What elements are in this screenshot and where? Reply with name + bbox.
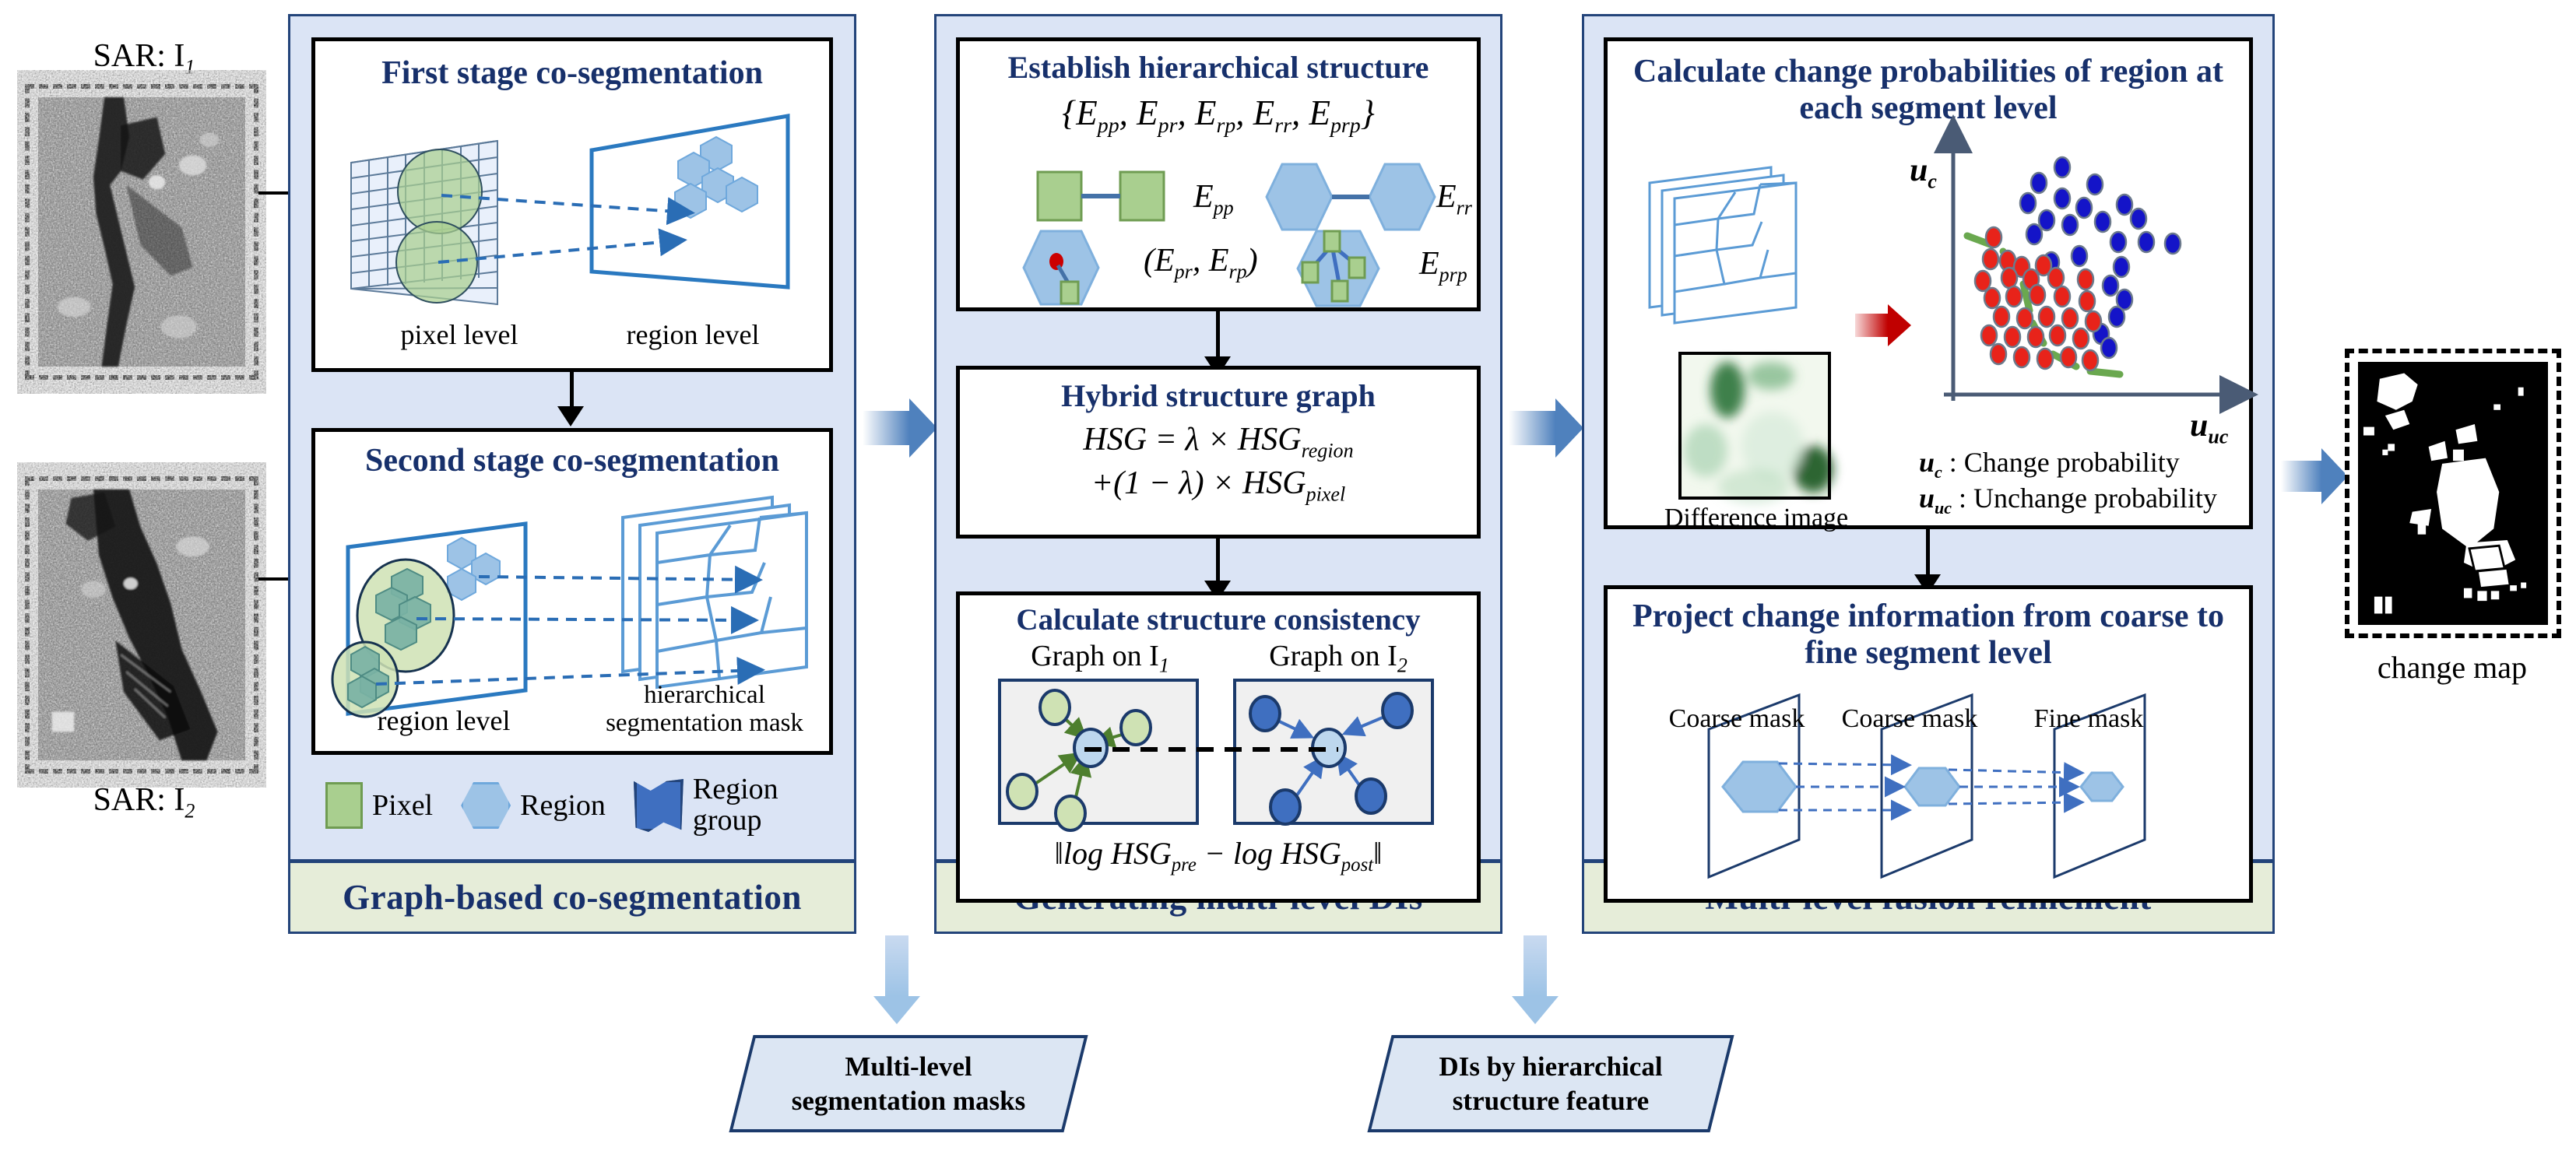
edge-prp-glyph — [1295, 225, 1404, 312]
hsg-formula-line1: HSG = λ × HSGregion — [960, 421, 1477, 462]
box-calculate-structure-consistency: Calculate structure consistency Graph on… — [956, 591, 1481, 903]
graph-correspondence-line — [1084, 743, 1341, 756]
legend-label-region: Region — [520, 791, 606, 820]
output1-arrow-body — [885, 935, 908, 996]
sar1-raster — [38, 97, 245, 367]
edge-pr-rp-glyph — [1021, 225, 1122, 311]
box-first-stage-co-segmentation: First stage co-segmentation — [311, 37, 833, 372]
difference-image-caption: Difference image — [1651, 504, 1861, 532]
box-hybrid-structure-graph: Hybrid structure graph HSG = λ × HSGregi… — [956, 366, 1481, 539]
stage3-to-changemap-arrow-head — [2321, 448, 2348, 504]
difference-image — [1679, 353, 1832, 500]
stage3-to-changemap-arrow-body — [2281, 461, 2321, 492]
edge-pr-rp-label: (Epr, Erp) — [1144, 242, 1258, 283]
box-calculate-change-probabilities: Calculate change probabilities of region… — [1604, 37, 2253, 529]
output2-line1: DIs by hierarchical — [1439, 1050, 1662, 1084]
change-map-image — [2345, 349, 2561, 638]
plane-label-coarse-mask-1: Coarse mask — [1643, 704, 1830, 733]
graph-on-i1-label: Graph on I1 — [983, 640, 1217, 677]
square-swatch-icon — [325, 782, 363, 829]
output1-line1: Multi-level — [792, 1050, 1025, 1084]
stage1-to-stage2-arrow-head — [909, 398, 937, 458]
stage2-to-stage3-arrow-head — [1555, 398, 1583, 458]
blob-swatch-icon — [634, 779, 684, 832]
stage1-footer-label: Graph-based co-segmentation — [343, 877, 802, 918]
output1-line2: segmentation masks — [792, 1084, 1025, 1118]
first-stage-caption-region-level: region level — [592, 320, 794, 351]
input-sar2-image — [25, 476, 258, 774]
input-sar2-label: SAR: I2 — [16, 781, 272, 823]
project-change-title: Project change information from coarse t… — [1608, 598, 2249, 672]
stage1-legend: Pixel Region Region group — [325, 770, 831, 840]
legend-label-region-group: Region group — [693, 774, 810, 837]
stage1-to-stage2-arrow-body — [863, 411, 909, 445]
first-stage-caption-pixel-level: pixel level — [362, 320, 557, 351]
edge-pp-label: Epp — [1193, 178, 1234, 219]
change-prob-title: Calculate change probabilities of region… — [1608, 54, 2249, 127]
output2-line2: structure feature — [1439, 1084, 1662, 1118]
legend-item-region-group: Region group — [634, 774, 810, 837]
stage2-connector-line-1 — [1216, 311, 1220, 360]
edge-rr-label: Err — [1436, 178, 1472, 219]
plane-label-fine-mask: Fine mask — [2003, 704, 2174, 733]
second-stage-caption-region-level: region level — [346, 706, 541, 737]
hier-mask-line1: hierarchical — [588, 681, 821, 709]
first-stage-title: First stage co-segmentation — [315, 55, 829, 92]
scatter-x-axis-label: uuc — [2190, 407, 2228, 448]
output2-arrow-head — [1512, 996, 1559, 1024]
change-probability-scatter-plot — [1925, 127, 2244, 438]
legend-item-region: Region — [461, 782, 606, 829]
hier-mask-line2: segmentation mask — [588, 709, 821, 737]
stage1-connector-line — [570, 372, 574, 409]
edge-set-formula: {Epp, Epr, Erp, Err, Eprp} — [960, 93, 1477, 139]
second-stage-caption-hierarchical-mask: hierarchical segmentation mask — [588, 681, 821, 738]
scatter-legend-uuc: uuc : Unchange probability — [1919, 482, 2217, 518]
output1-arrow-head — [873, 996, 920, 1024]
stage2-connector-line-2 — [1216, 539, 1220, 585]
input-sar1-image — [25, 84, 258, 380]
box-establish-hierarchical-structure: Establish hierarchical structure {Epp, E… — [956, 37, 1481, 311]
scatter-legend-uuc-text: : Unchange probability — [1959, 482, 2217, 514]
difference-to-scatter-arrow-head — [1888, 304, 1911, 346]
box-second-stage-co-segmentation: Second stage co-segmentation — [311, 428, 833, 755]
input-sar1-label: SAR: I1 — [16, 37, 272, 79]
edge-pp-glyph — [1035, 166, 1190, 228]
output-dis-by-hierarchical-structure-feature-text: DIs by hierarchical structure feature — [1379, 1035, 1722, 1132]
output2-arrow-body — [1523, 935, 1547, 996]
sar2-raster — [38, 490, 245, 760]
second-stage-title: Second stage co-segmentation — [315, 443, 829, 479]
change-map-caption: change map — [2335, 651, 2569, 685]
pixel-to-region-links — [345, 110, 812, 328]
structure-consistency-title: Calculate structure consistency — [960, 603, 1477, 637]
change-map-raster — [2358, 362, 2548, 625]
scatter-legend-uc-text: : Change probability — [1949, 447, 2180, 478]
graph-on-i2-label: Graph on I2 — [1221, 640, 1455, 677]
hybrid-structure-title: Hybrid structure graph — [960, 379, 1477, 414]
segment-level-mask-stack — [1643, 160, 1838, 339]
legend-label-pixel: Pixel — [372, 791, 433, 820]
difference-to-scatter-arrow-body — [1855, 314, 1888, 337]
plane-label-coarse-mask-2: Coarse mask — [1816, 704, 2003, 733]
establish-structure-title: Establish hierarchical structure — [960, 51, 1477, 86]
scatter-y-axis-label: uc — [1910, 152, 1937, 193]
output-multi-level-segmentation-masks-text: Multi-level segmentation masks — [741, 1035, 1076, 1132]
stage3-connector-line — [1926, 529, 1930, 577]
stage1-footer: Graph-based co-segmentation — [290, 859, 854, 932]
edge-prp-label: Eprp — [1419, 245, 1467, 286]
stage1-connector-arrowhead — [557, 406, 584, 426]
edge-rr-glyph — [1263, 158, 1458, 236]
box-project-change-information: Project change information from coarse t… — [1604, 585, 2253, 903]
hexagon-swatch-icon — [461, 782, 511, 829]
stage2-to-stage3-arrow-body — [1509, 411, 1555, 445]
structure-distance-formula: ‖log HSGpre − log HSGpost‖ — [960, 835, 1477, 876]
scatter-legend-uc: uc : Change probability — [1919, 446, 2180, 482]
legend-item-pixel: Pixel — [325, 782, 433, 829]
hsg-formula-line2: +(1 − λ) × HSGpixel — [960, 465, 1477, 506]
